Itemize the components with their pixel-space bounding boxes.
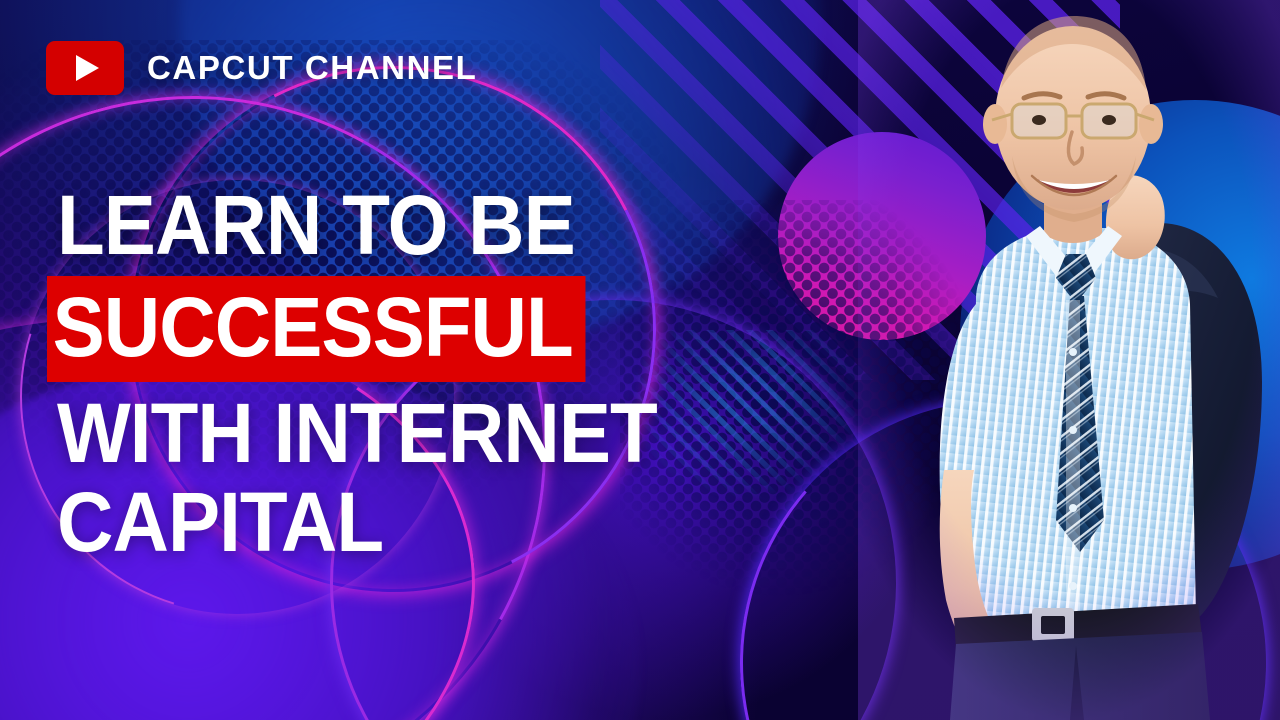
youtube-play-icon[interactable] (46, 41, 124, 95)
businessman-illustration (858, 0, 1280, 720)
channel-name-label: CAPCUT CHANNEL (147, 49, 477, 87)
headline-line-4: CAPITAL (57, 483, 801, 563)
headline-line-3: WITH INTERNET (57, 394, 801, 474)
headline-line-2-highlight: SUCCESSFUL (47, 276, 586, 382)
channel-header: CAPCUT CHANNEL (46, 41, 477, 95)
headline-line-1: LEARN TO BE (57, 186, 801, 266)
thumbnail-canvas: CAPCUT CHANNEL LEARN TO BE SUCCESSFUL WI… (0, 0, 1280, 720)
play-triangle-icon (76, 55, 99, 81)
businessman-photo (858, 0, 1280, 720)
headline-block: LEARN TO BE SUCCESSFUL WITH INTERNET CAP… (57, 186, 857, 573)
rim-light-overlay (858, 0, 1280, 720)
